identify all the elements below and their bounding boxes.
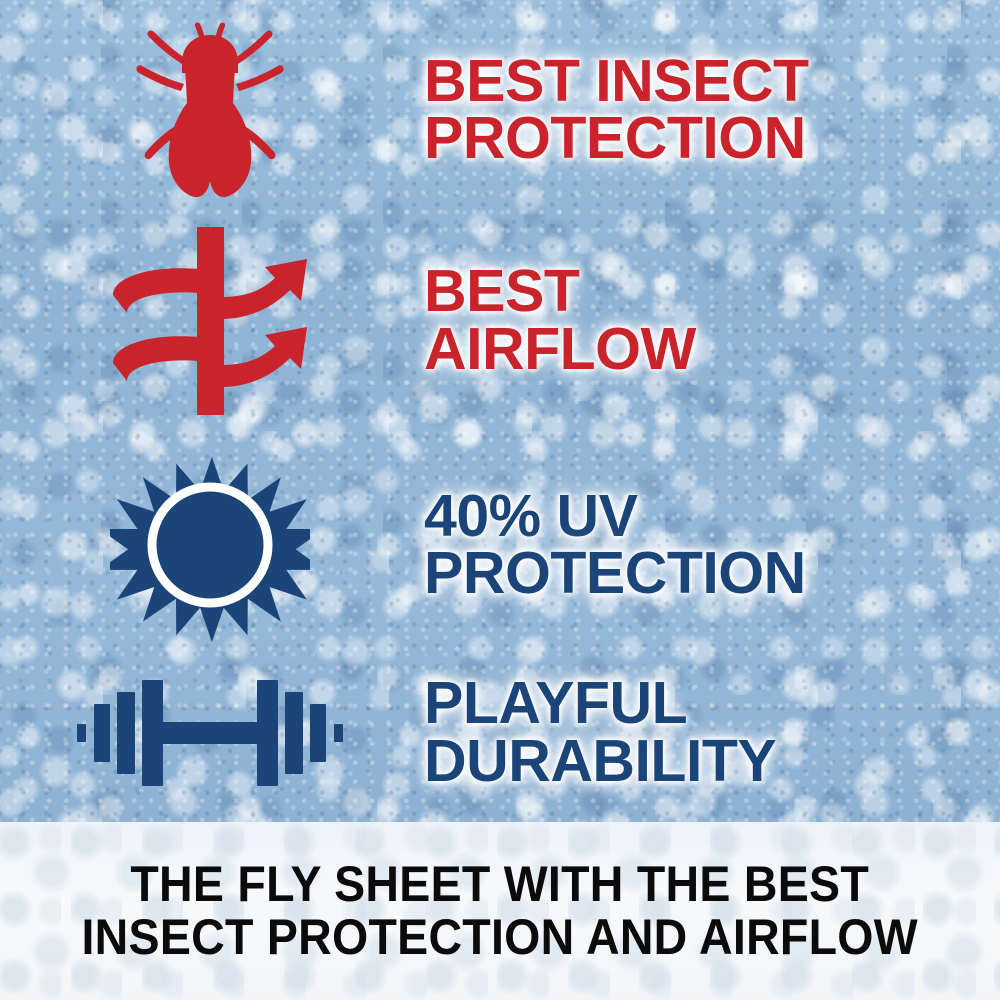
- feature-label-airflow: BEST AIRFLOW: [424, 263, 1000, 377]
- icon-cell-insect-protection: [0, 15, 420, 205]
- poster-caption: THE FLY SHEET WITH THE BEST INSECT PROTE…: [82, 858, 918, 964]
- feature-row-airflow: BEST AIRFLOW: [0, 218, 1000, 423]
- text-cell-airflow: BEST AIRFLOW: [420, 263, 1000, 377]
- icon-cell-durability: [0, 668, 420, 798]
- icon-cell-airflow: [0, 223, 420, 418]
- feature-label-durability: PLAYFUL DURABILITY: [424, 675, 1000, 789]
- feature-row-uv-protection: 40% UV PROTECTION: [0, 440, 1000, 650]
- features-panel: BEST INSECT PROTECTION: [0, 0, 1000, 822]
- icon-cell-uv-protection: [0, 445, 420, 645]
- product-feature-poster: BEST INSECT PROTECTION: [0, 0, 1000, 1000]
- caption-band: THE FLY SHEET WITH THE BEST INSECT PROTE…: [0, 822, 1000, 1000]
- airflow-arrows-icon: [95, 223, 325, 418]
- feature-row-durability: PLAYFUL DURABILITY: [0, 650, 1000, 815]
- dumbbell-icon: [75, 668, 345, 798]
- feature-label-uv-protection: 40% UV PROTECTION: [424, 488, 1000, 602]
- text-cell-insect-protection: BEST INSECT PROTECTION: [420, 53, 1000, 167]
- text-cell-uv-protection: 40% UV PROTECTION: [420, 488, 1000, 602]
- text-cell-durability: PLAYFUL DURABILITY: [420, 675, 1000, 789]
- feature-label-insect-protection: BEST INSECT PROTECTION: [424, 53, 1000, 167]
- fly-icon: [125, 15, 295, 205]
- sun-uv-icon: [110, 445, 310, 645]
- feature-row-insect-protection: BEST INSECT PROTECTION: [0, 10, 1000, 210]
